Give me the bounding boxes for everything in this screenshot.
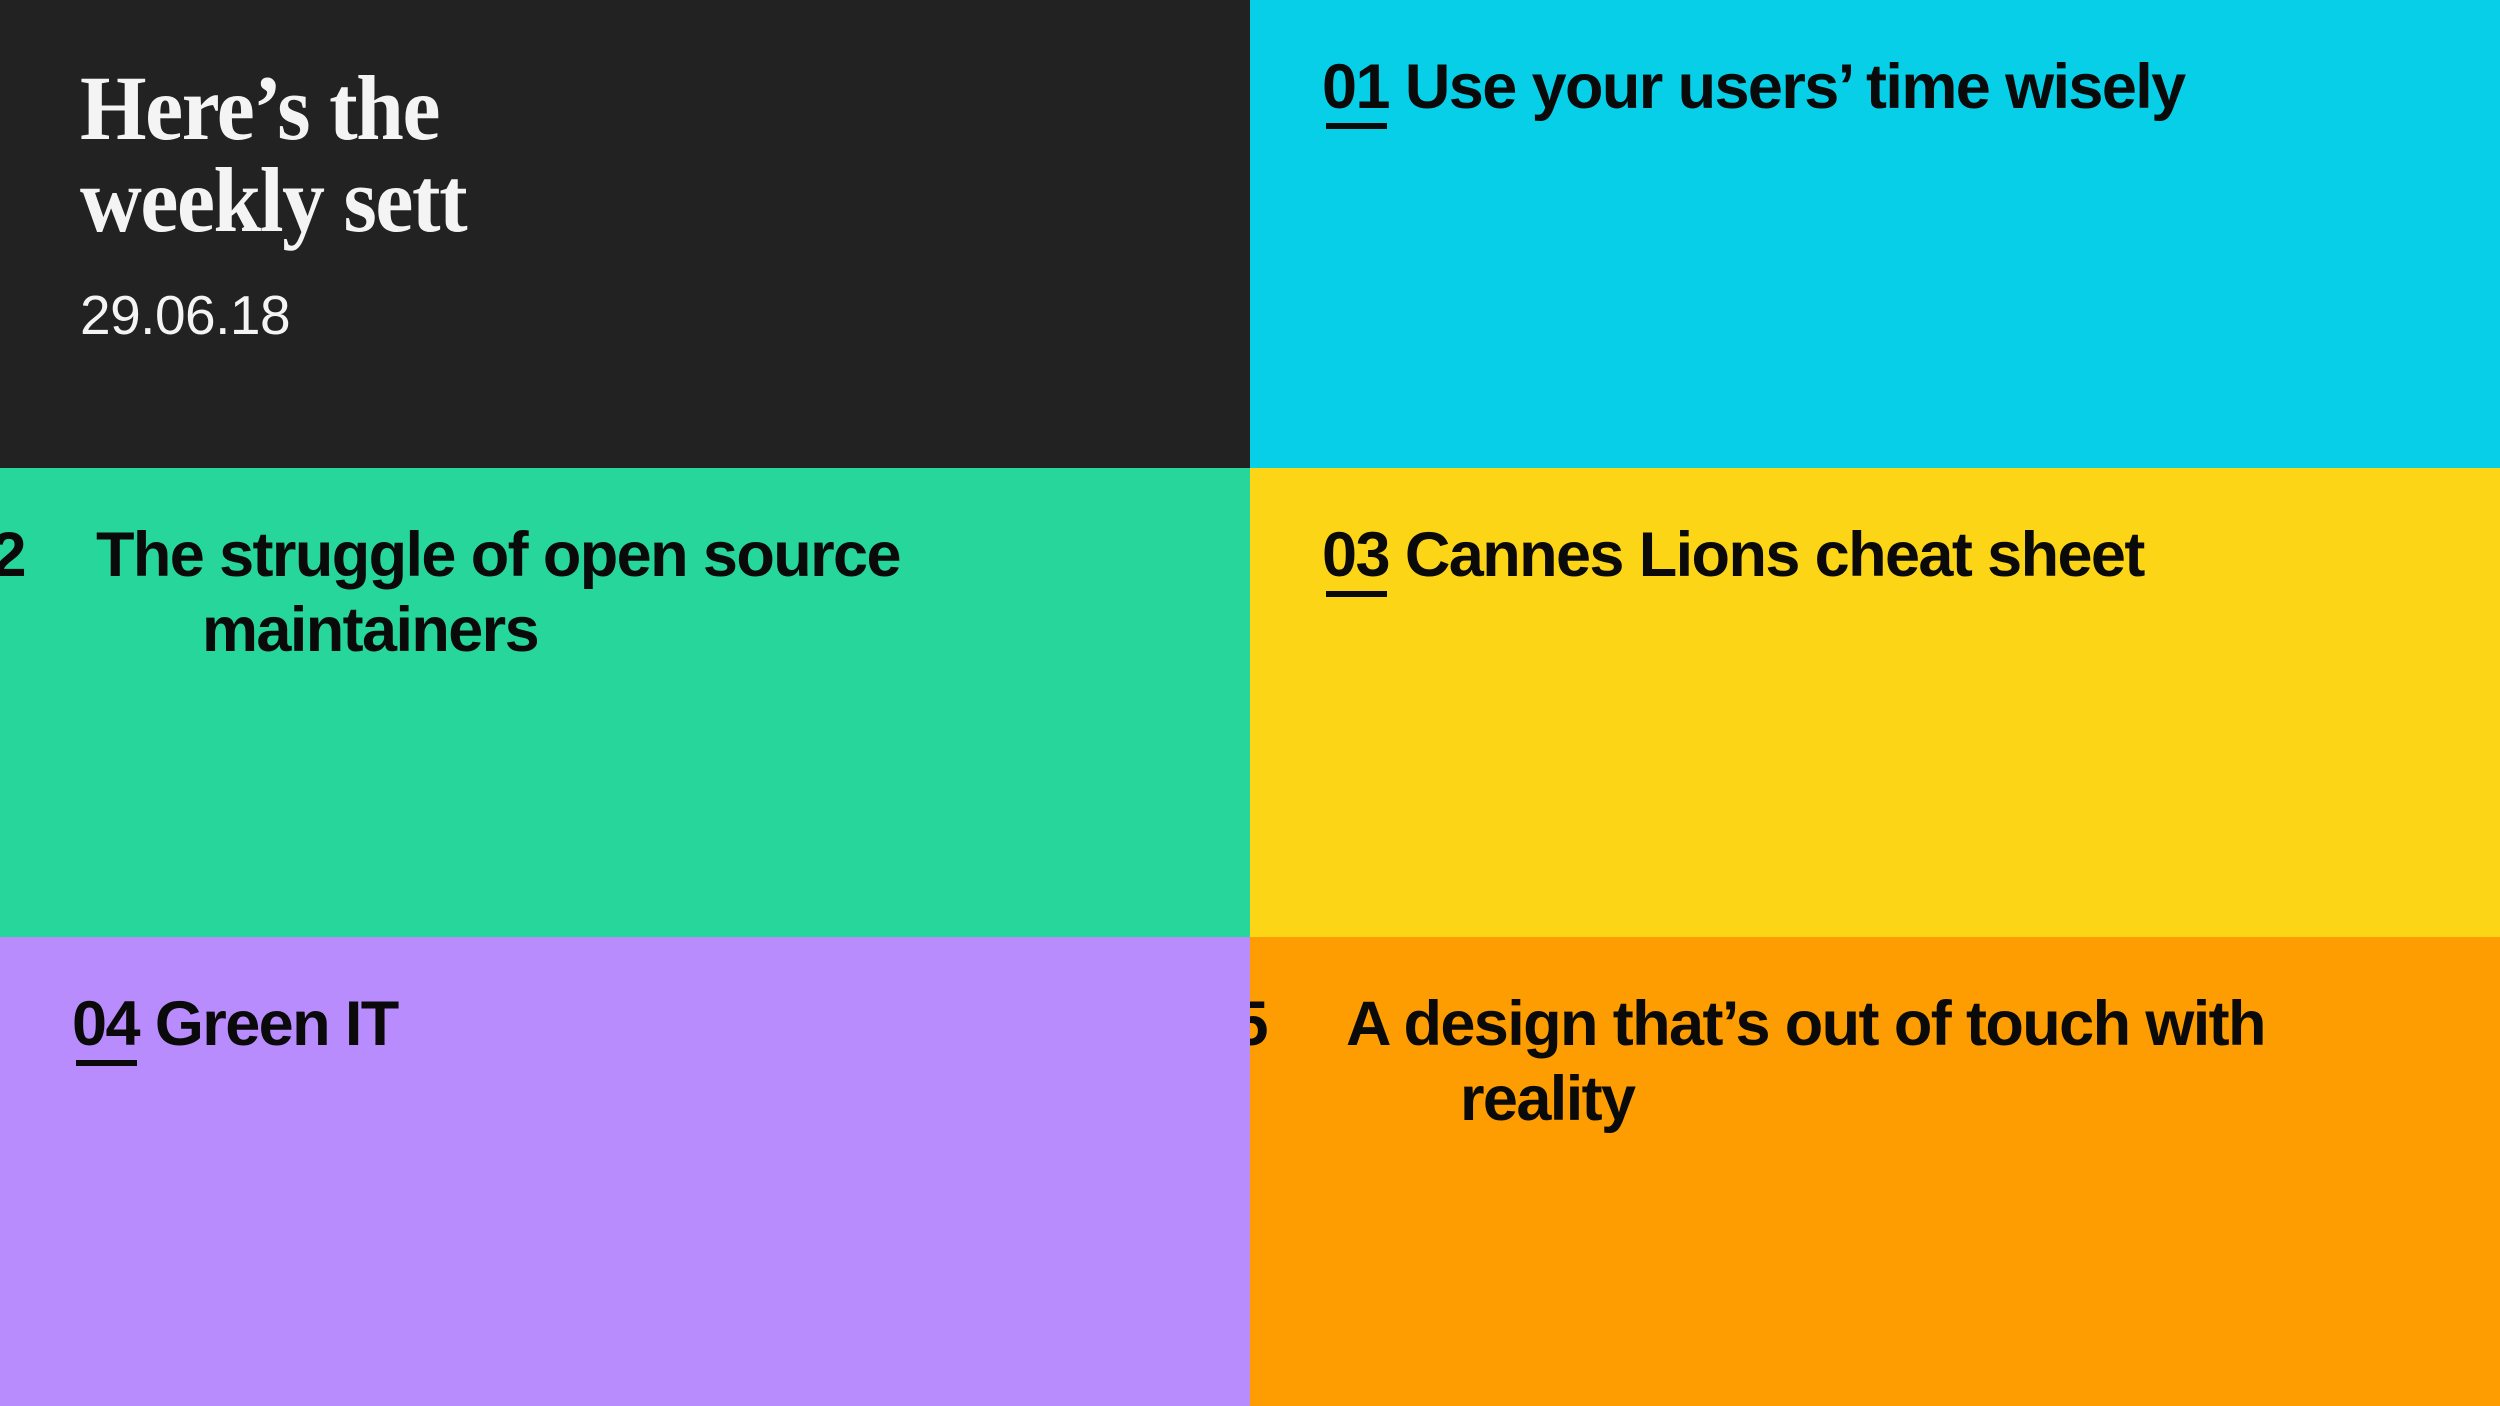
article-index-03: 03 [1326, 518, 1395, 593]
article-card-03[interactable]: 03Cannes Lions cheat sheet [1250, 468, 2500, 937]
article-card-04[interactable]: 04Green IT [0, 937, 1250, 1406]
article-title-05: A design that’s out of touch with realit… [1346, 989, 2265, 1134]
article-index-05: 05 [1330, 987, 1336, 1062]
article-card-05[interactable]: 05A design that’s out of touch with real… [1250, 937, 2500, 1406]
issue-date: 29.06.18 [80, 288, 1170, 343]
article-title-04: Green IT [155, 989, 398, 1059]
newsletter-cover-grid: Here’s the weekly sett 29.06.18 01Use yo… [0, 0, 2500, 1406]
article-title-02: The struggle of open source maintainers [96, 520, 900, 665]
article-title-01: Use your users’ time wisely [1405, 52, 2185, 122]
article-index-02: 02 [80, 518, 86, 593]
article-index-04: 04 [76, 987, 145, 1062]
article-heading-01: 01Use your users’ time wisely [1330, 50, 2430, 125]
page-title: Here’s the weekly sett [80, 62, 1094, 246]
article-heading-05: 05A design that’s out of touch with real… [1330, 987, 2430, 1137]
article-index-01: 01 [1326, 50, 1395, 125]
article-heading-02: 02The struggle of open source maintainer… [80, 518, 1180, 668]
article-card-01[interactable]: 01Use your users’ time wisely [1250, 0, 2500, 468]
article-heading-03: 03Cannes Lions cheat sheet [1330, 518, 2430, 593]
article-title-03: Cannes Lions cheat sheet [1405, 520, 2144, 590]
article-card-02[interactable]: 02The struggle of open source maintainer… [0, 468, 1250, 937]
article-heading-04: 04Green IT [80, 987, 1180, 1062]
intro-panel: Here’s the weekly sett 29.06.18 [0, 0, 1250, 468]
